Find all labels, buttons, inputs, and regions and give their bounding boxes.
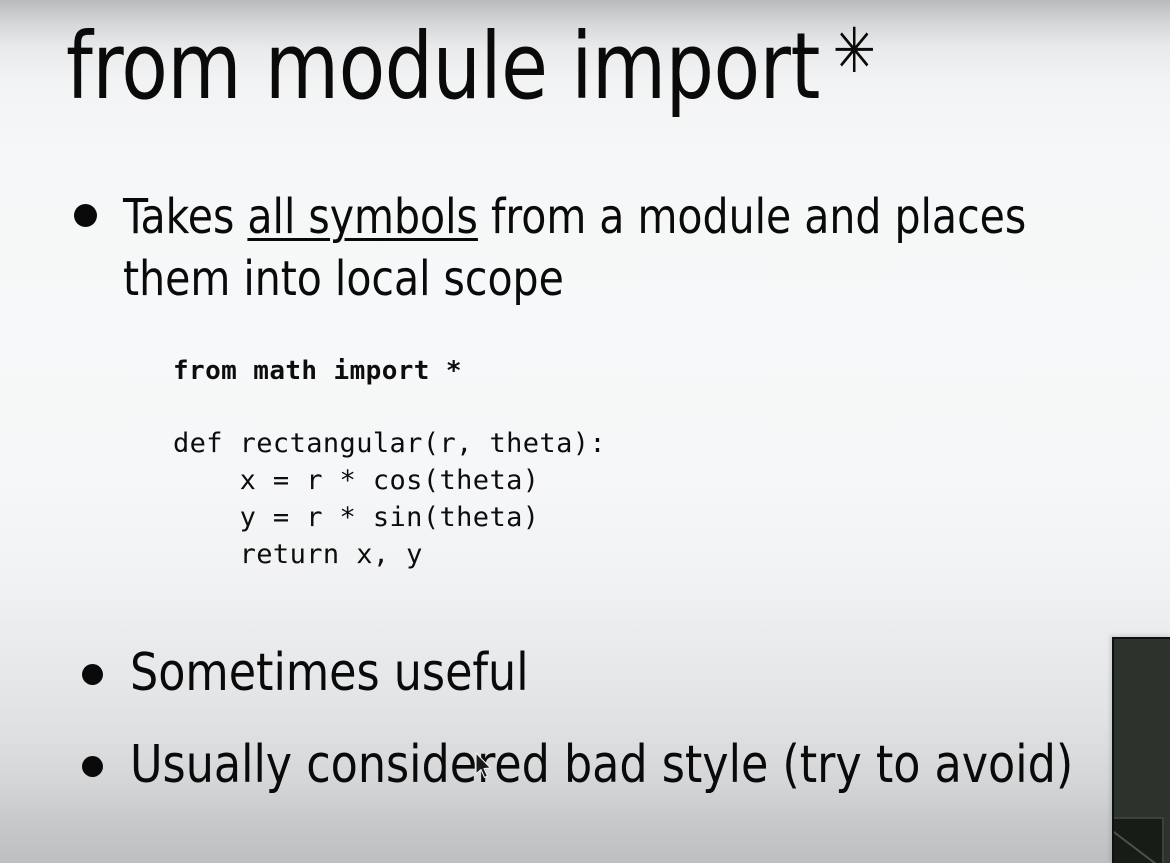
bullet-text-lead: Takes — [123, 189, 247, 245]
slide-canvas: from module import✳ Takes all symbols fr… — [0, 0, 1170, 863]
bullet-dot-icon — [82, 664, 103, 685]
slide-title-text: from module import — [66, 13, 820, 120]
code-import-line: from math import * — [173, 356, 462, 386]
bullet-item-label: Sometimes useful — [130, 640, 529, 706]
code-function-body: def rectangular(r, theta): x = r * cos(t… — [173, 428, 606, 570]
bullet-dot-icon — [74, 204, 97, 227]
code-block: from math import *def rectangular(r, the… — [173, 352, 606, 573]
bullet-item-label: Usually considered bad style (try to avo… — [130, 732, 1073, 798]
bullet-dot-icon — [82, 756, 103, 777]
slide-title: from module import✳ — [66, 14, 875, 120]
bullet-item-usually-bad-style: Usually considered bad style (try to avo… — [82, 732, 1123, 798]
bullet-item-takes-all-symbols: Takes all symbols from a module and plac… — [74, 186, 1104, 310]
video-overlay-panel[interactable] — [1112, 637, 1170, 863]
code-blank-line — [173, 390, 606, 425]
video-overlay-diagonal-icon — [1112, 821, 1162, 863]
bullet-item-label: Takes all symbols from a module and plac… — [123, 186, 1026, 310]
asterisk-icon: ✳ — [820, 14, 875, 87]
bullet-item-sometimes-useful: Sometimes useful — [82, 640, 550, 706]
bullet-text-emphasis: all symbols — [247, 189, 477, 245]
